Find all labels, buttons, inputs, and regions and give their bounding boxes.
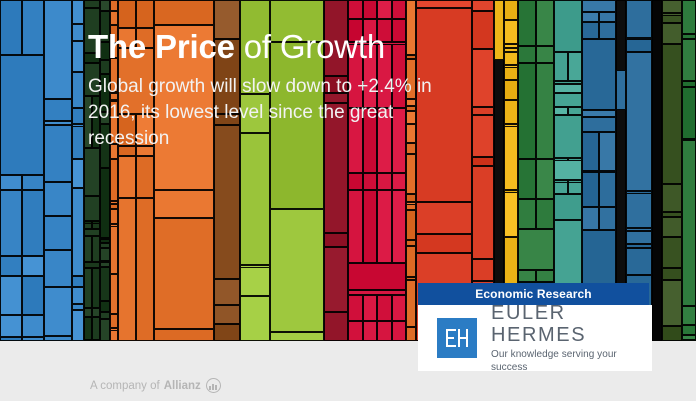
- treemap-cell: [392, 295, 407, 321]
- treemap-cell: [72, 276, 84, 287]
- treemap-cell: [599, 207, 616, 230]
- treemap-cell: [154, 329, 214, 341]
- treemap-cell: [72, 159, 84, 188]
- treemap-cell: [118, 0, 136, 28]
- treemap-cell: [100, 319, 110, 341]
- treemap-cell: [472, 49, 494, 107]
- treemap-cell: [406, 246, 416, 277]
- poster-root: The Price of Growth Global growth will s…: [0, 0, 696, 401]
- treemap-cell: [626, 39, 652, 52]
- treemap-column: [44, 0, 72, 341]
- treemap-cell: [682, 39, 696, 81]
- treemap-cell: [240, 267, 270, 296]
- treemap-cell: [72, 72, 84, 108]
- treemap-cell: [348, 263, 406, 290]
- treemap-cell: [406, 280, 416, 327]
- treemap-cell: [100, 301, 110, 312]
- treemap-cell: [582, 12, 599, 22]
- treemap-cell: [554, 160, 582, 180]
- treemap-cell: [626, 0, 652, 38]
- treemap-column: [72, 0, 84, 341]
- treemap-cell: [110, 11, 118, 25]
- treemap-cell: [84, 0, 100, 8]
- treemap-cell: [324, 247, 348, 312]
- treemap-cell: [136, 156, 154, 198]
- treemap-cell: [554, 115, 582, 158]
- allianz-credit-brand: Allianz: [164, 379, 201, 393]
- treemap-cell: [582, 22, 599, 39]
- treemap-cell: [136, 0, 154, 28]
- treemap-cell: [682, 87, 696, 139]
- treemap-cell: [582, 110, 616, 117]
- treemap-cell: [626, 248, 652, 275]
- treemap-cell: [110, 0, 118, 11]
- treemap-cell: [554, 0, 582, 52]
- treemap-cell: [154, 218, 214, 329]
- treemap-cell: [406, 210, 416, 240]
- treemap-cell: [363, 0, 378, 19]
- treemap-cell: [652, 0, 662, 341]
- treemap-cell: [682, 0, 696, 34]
- treemap-cell: [84, 196, 100, 221]
- treemap-cell: [568, 52, 582, 81]
- treemap-cell: [554, 93, 582, 107]
- treemap-cell: [348, 321, 363, 341]
- page-title: The Price of Growth: [88, 28, 448, 66]
- treemap-cell: [363, 295, 378, 321]
- hero-subheadline: Global growth will slow down to +2.4% in…: [88, 74, 448, 152]
- treemap-column: [662, 0, 682, 341]
- treemap-cell: [504, 80, 518, 100]
- treemap-cell: [568, 182, 582, 194]
- treemap-cell: [554, 194, 582, 220]
- treemap-cell: [536, 0, 554, 46]
- treemap-cell: [582, 39, 616, 110]
- treemap-cell: [626, 231, 652, 244]
- treemap-cell: [84, 229, 100, 236]
- treemap-cell: [22, 0, 44, 55]
- treemap-cell: [363, 190, 378, 263]
- brand-name: EULER HERMES: [491, 302, 652, 346]
- treemap-cell: [504, 100, 518, 124]
- treemap-cell: [416, 202, 472, 234]
- treemap-cell: [554, 182, 568, 194]
- treemap-cell: [406, 194, 416, 202]
- treemap-cell: [324, 312, 348, 341]
- treemap-cell: [0, 175, 22, 190]
- treemap-cell: [84, 236, 92, 262]
- treemap-cell: [84, 308, 92, 317]
- treemap-cell: [392, 190, 407, 263]
- treemap-cell: [536, 270, 554, 282]
- page-title-strong: The Price: [88, 28, 235, 65]
- treemap-cell: [504, 52, 518, 65]
- treemap-cell: [582, 207, 599, 230]
- treemap-cell: [22, 256, 44, 276]
- treemap-cell: [348, 190, 363, 263]
- treemap-column: [0, 0, 44, 341]
- treemap-cell: [92, 317, 100, 340]
- treemap-cell: [416, 234, 472, 253]
- treemap-cell: [504, 192, 518, 237]
- treemap-cell: [110, 330, 118, 341]
- treemap-cell: [0, 0, 22, 55]
- treemap-cell: [100, 0, 110, 11]
- treemap-cell: [662, 268, 682, 280]
- brand-tagline: Our knowledge serving your success: [491, 348, 652, 374]
- treemap-cell: [84, 148, 100, 196]
- treemap-cell: [0, 190, 22, 256]
- treemap-cell: [348, 173, 363, 190]
- treemap-cell: [270, 209, 324, 332]
- treemap-cell: [472, 107, 494, 115]
- treemap-cell: [100, 267, 110, 301]
- treemap-cell: [44, 182, 72, 216]
- treemap-cell: [504, 20, 518, 44]
- treemap-cell: [582, 0, 616, 12]
- treemap-cell: [100, 168, 110, 238]
- allianz-credit-prefix: A company of: [90, 379, 160, 393]
- treemap-cell: [472, 11, 494, 49]
- treemap-cell: [662, 15, 682, 23]
- treemap-cell: [472, 157, 494, 166]
- treemap-cell: [0, 315, 22, 337]
- treemap-cell: [72, 108, 84, 124]
- treemap-cell: [518, 199, 536, 229]
- treemap-cell: [214, 279, 240, 305]
- treemap-cell: [536, 63, 554, 159]
- treemap-cell: [72, 24, 84, 41]
- treemap-cell: [554, 84, 582, 93]
- treemap-cell: [22, 190, 44, 256]
- euler-hermes-wordmark: EULER HERMES Our knowledge serving your …: [491, 302, 652, 374]
- treemap-cell: [392, 173, 407, 190]
- treemap-cell: [662, 237, 682, 268]
- treemap-cell: [662, 280, 682, 326]
- treemap-column: [682, 0, 696, 341]
- treemap-cell: [110, 314, 118, 328]
- treemap-cell: [72, 126, 84, 159]
- treemap-cell: [377, 295, 392, 321]
- treemap-cell: [72, 287, 84, 304]
- treemap-cell: [682, 325, 696, 335]
- treemap-cell: [536, 159, 554, 199]
- treemap-cell: [392, 321, 407, 341]
- treemap-cell: [472, 0, 494, 11]
- allianz-credit: A company of Allianz: [90, 378, 221, 393]
- treemap-cell: [377, 173, 392, 190]
- treemap-cell: [22, 175, 44, 190]
- treemap-cell: [472, 115, 494, 157]
- treemap-accent-cell: [616, 70, 626, 110]
- treemap-cell: [44, 125, 72, 182]
- treemap-cell: [518, 0, 536, 46]
- treemap-cell: [44, 0, 72, 99]
- treemap-cell: [377, 321, 392, 341]
- treemap-cell: [324, 233, 348, 247]
- treemap-cell: [554, 52, 568, 81]
- treemap-cell: [536, 46, 554, 63]
- treemap-cell: [472, 166, 494, 259]
- treemap-cell: [100, 248, 110, 261]
- treemap-cell: [626, 52, 652, 191]
- treemap-cell: [662, 0, 682, 13]
- treemap-cell: [377, 0, 392, 19]
- treemap-cell: [406, 154, 416, 194]
- treemap-cell: [240, 133, 270, 265]
- treemap-cell: [582, 132, 599, 171]
- treemap-cell: [626, 193, 652, 228]
- treemap-cell: [518, 46, 536, 63]
- treemap-column: [652, 0, 662, 341]
- treemap-cell: [599, 22, 616, 39]
- treemap-cell: [363, 321, 378, 341]
- treemap-cell: [682, 140, 696, 306]
- treemap-cell: [662, 23, 682, 44]
- treemap-cell: [22, 276, 44, 315]
- treemap-cell: [363, 173, 378, 190]
- treemap-cell: [504, 0, 518, 20]
- allianz-bars-icon: [206, 378, 221, 393]
- treemap-cell: [44, 216, 72, 250]
- treemap-cell: [214, 324, 240, 341]
- treemap-cell: [504, 126, 518, 190]
- treemap-cell: [518, 159, 536, 199]
- treemap-cell: [582, 172, 599, 207]
- treemap-cell: [110, 226, 118, 274]
- treemap-cell: [44, 287, 72, 336]
- treemap-cell: [518, 229, 554, 270]
- treemap-cell: [92, 308, 100, 317]
- treemap-cell: [662, 326, 682, 341]
- treemap-accent-cell: [494, 0, 504, 60]
- treemap-cell: [44, 250, 72, 287]
- treemap-cell: [72, 0, 84, 24]
- treemap-cell: [406, 327, 416, 341]
- treemap-cell: [416, 0, 472, 8]
- treemap-cell: [214, 305, 240, 324]
- treemap-cell: [100, 312, 110, 319]
- treemap-cell: [392, 0, 407, 19]
- treemap-cell: [554, 107, 568, 115]
- page-title-light: of Growth: [235, 28, 385, 65]
- treemap-cell: [0, 256, 22, 276]
- treemap-cell: [662, 184, 682, 212]
- treemap-cell: [118, 198, 136, 341]
- treemap-cell: [377, 190, 392, 263]
- hero-text-block: The Price of Growth Global growth will s…: [88, 28, 448, 152]
- treemap-cell: [682, 306, 696, 325]
- treemap-cell: [84, 317, 92, 340]
- treemap-cell: [92, 268, 100, 308]
- treemap-cell: [599, 132, 616, 171]
- treemap-cell: [0, 55, 44, 175]
- economic-research-label: Economic Research: [475, 287, 591, 301]
- treemap-cell: [240, 296, 270, 341]
- treemap-cell: [110, 274, 118, 314]
- euler-hermes-logo-card: EULER HERMES Our knowledge serving your …: [418, 305, 652, 371]
- treemap-cell: [136, 198, 154, 341]
- treemap-cell: [662, 217, 682, 237]
- treemap-cell: [154, 0, 214, 25]
- treemap-cell: [270, 332, 324, 341]
- treemap-cell: [84, 268, 92, 308]
- treemap-cell: [536, 199, 554, 229]
- treemap-cell: [518, 270, 536, 282]
- treemap-cell: [110, 209, 118, 224]
- treemap-cell: [22, 315, 44, 337]
- treemap-cell: [599, 172, 616, 207]
- euler-hermes-monogram-icon: [437, 318, 477, 358]
- treemap-cell: [44, 99, 72, 121]
- treemap-cell: [599, 12, 616, 22]
- treemap-cell: [72, 41, 84, 72]
- treemap-cell: [518, 63, 536, 159]
- treemap-cell: [472, 259, 494, 281]
- treemap-cell: [348, 0, 363, 19]
- treemap-cell: [110, 159, 118, 201]
- treemap-cell: [662, 44, 682, 184]
- treemap-cell: [568, 107, 582, 115]
- treemap-cell: [72, 188, 84, 276]
- treemap-cell: [72, 310, 84, 341]
- treemap-cell: [348, 295, 363, 321]
- treemap-cell: [582, 117, 616, 132]
- treemap-cell: [154, 190, 214, 218]
- treemap-cell: [92, 236, 100, 262]
- treemap-cell: [118, 156, 136, 198]
- treemap-cell: [504, 67, 518, 80]
- treemap-cell: [0, 276, 22, 315]
